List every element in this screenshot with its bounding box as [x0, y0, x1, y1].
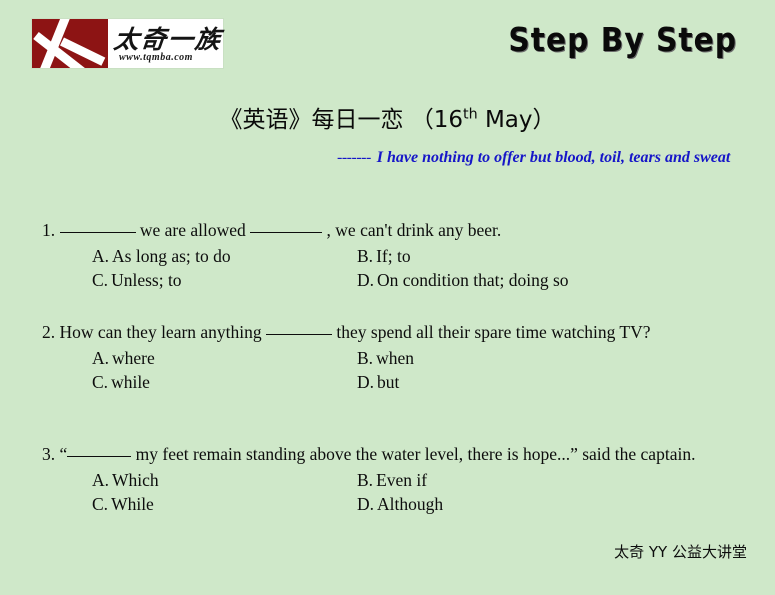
question-2-text-1: How can they learn anything: [60, 322, 267, 342]
question-3-option-a[interactable]: A.Which: [92, 468, 357, 492]
question-3-text-2: my feet remain standing above the water …: [131, 444, 695, 464]
question-1-option-a-text: As long as; to do: [112, 246, 231, 266]
question-3-stem: 3. “ my feet remain standing above the w…: [42, 442, 714, 466]
question-3-option-b-text: Even if: [376, 470, 427, 490]
question-3-option-d-label: D.: [357, 494, 374, 514]
question-3-option-b-label: B.: [357, 470, 373, 490]
question-2: 2. How can they learn anything they spen…: [42, 320, 714, 394]
question-2-option-b[interactable]: B.when: [357, 346, 622, 370]
question-3-option-row-2: C.While D.Although: [42, 492, 714, 516]
question-3-number: 3.: [42, 444, 55, 464]
brand-logo: 太奇一族 www.tqmba.com: [31, 18, 224, 69]
question-2-blank-1[interactable]: [266, 334, 332, 335]
footer-text: 太奇 YY 公益大讲堂: [614, 541, 747, 562]
slide-canvas: 太奇一族 www.tqmba.com Step By Step 《英语》每日一恋…: [0, 0, 775, 595]
question-3-option-c[interactable]: C.While: [92, 492, 357, 516]
question-2-stem: 2. How can they learn anything they spen…: [42, 320, 714, 344]
question-1-option-b-text: If; to: [376, 246, 411, 266]
logo-wordmark: 太奇一族 www.tqmba.com: [108, 19, 223, 68]
question-3-option-a-label: A.: [92, 470, 109, 490]
logo-url-text: www.tqmba.com: [119, 52, 193, 63]
question-1-text-1: we are allowed: [136, 220, 251, 240]
question-3-option-c-text: While: [111, 494, 154, 514]
question-1-option-a[interactable]: A.As long as; to do: [92, 244, 357, 268]
question-1-options: A.As long as; to do B.If; to C.Unless; t…: [42, 244, 732, 292]
page-title-superscript: th: [463, 106, 478, 122]
question-1-option-b[interactable]: B.If; to: [357, 244, 622, 268]
question-1-option-c-text: Unless; to: [111, 270, 182, 290]
question-3-option-b[interactable]: B.Even if: [357, 468, 622, 492]
question-3-text-1: “: [60, 444, 68, 464]
question-3-option-a-text: Which: [112, 470, 159, 490]
question-2-option-a[interactable]: A.where: [92, 346, 357, 370]
question-1-number: 1.: [42, 220, 55, 240]
logo-calligraphy-text: 太奇一族: [112, 20, 224, 56]
question-1-option-b-label: B.: [357, 246, 373, 266]
question-1-blank-1[interactable]: [60, 232, 136, 233]
question-2-number: 2.: [42, 322, 55, 342]
question-2-options: A.where B.when C.while D.but: [42, 346, 714, 394]
question-2-text-2: they spend all their spare time watching…: [332, 322, 650, 342]
question-1-blank-2[interactable]: [250, 232, 322, 233]
question-3-option-d-text: Although: [377, 494, 443, 514]
question-2-option-c[interactable]: C.while: [92, 370, 357, 394]
question-1-option-c[interactable]: C.Unless; to: [92, 268, 357, 292]
question-2-option-a-label: A.: [92, 348, 109, 368]
question-3-blank-1[interactable]: [67, 456, 131, 457]
question-2-option-d[interactable]: D.but: [357, 370, 622, 394]
question-2-option-a-text: where: [112, 348, 155, 368]
question-3-options: A.Which B.Even if C.While D.Although: [42, 468, 714, 516]
question-2-option-d-text: but: [377, 372, 399, 392]
question-1-text-2: , we can't drink any beer.: [322, 220, 501, 240]
page-title: 《英语》每日一恋 （16th May）: [0, 100, 775, 134]
question-3-option-c-label: C.: [92, 494, 108, 514]
question-1-option-d-label: D.: [357, 270, 374, 290]
question-2-option-c-label: C.: [92, 372, 108, 392]
page-title-tail: May）: [478, 107, 556, 133]
question-1-option-row-1: A.As long as; to do B.If; to: [42, 244, 732, 268]
page-title-main: 《英语》每日一恋 （16: [219, 107, 463, 133]
question-2-option-row-1: A.where B.when: [42, 346, 714, 370]
question-1: 1. we are allowed , we can't drink any b…: [42, 218, 732, 292]
question-2-option-b-text: when: [376, 348, 414, 368]
quote-text: I have nothing to offer but blood, toil,…: [377, 149, 731, 166]
question-1-option-row-2: C.Unless; to D.On condition that; doing …: [42, 268, 732, 292]
question-1-option-d[interactable]: D.On condition that; doing so: [357, 268, 622, 292]
question-1-stem: 1. we are allowed , we can't drink any b…: [42, 218, 732, 242]
question-1-option-d-text: On condition that; doing so: [377, 270, 569, 290]
step-by-step-heading: Step By Step: [508, 20, 737, 59]
question-3-option-d[interactable]: D.Although: [357, 492, 622, 516]
question-2-option-d-label: D.: [357, 372, 374, 392]
question-2-option-c-text: while: [111, 372, 150, 392]
quote-block: ------- I have nothing to offer but bloo…: [337, 146, 757, 169]
quote-dashes: -------: [337, 149, 371, 166]
question-1-option-c-label: C.: [92, 270, 108, 290]
question-3-option-row-1: A.Which B.Even if: [42, 468, 714, 492]
question-1-option-a-label: A.: [92, 246, 109, 266]
logo-mark-icon: [32, 19, 108, 68]
question-2-option-row-2: C.while D.but: [42, 370, 714, 394]
question-3: 3. “ my feet remain standing above the w…: [42, 442, 714, 516]
question-2-option-b-label: B.: [357, 348, 373, 368]
